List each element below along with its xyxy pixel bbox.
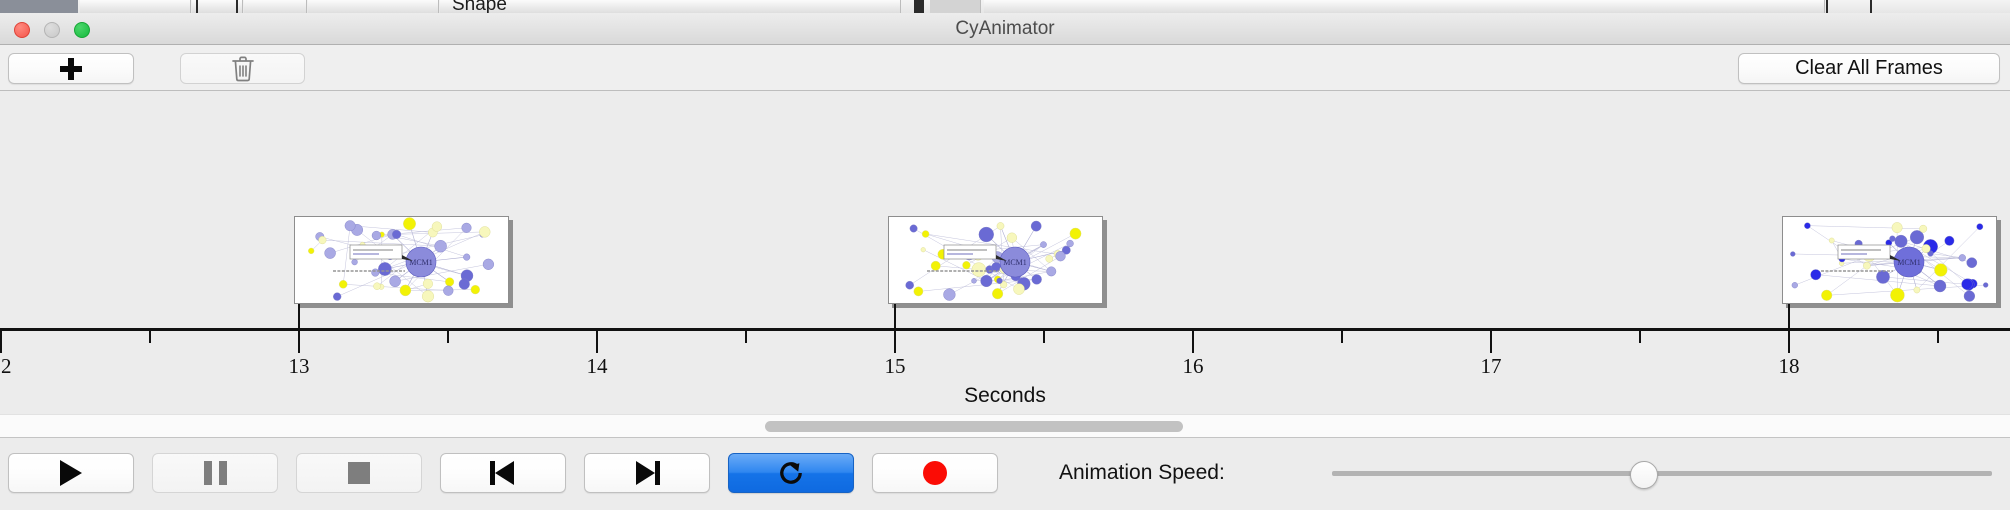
ruler-tick-minor [1043,331,1045,343]
play-icon [60,460,82,486]
ruler-tick-major [0,331,2,353]
cyanimator-window: Shape CyAnimator Clear All Frames MCM1MC… [0,0,2010,510]
ruler-tick-major [1192,331,1194,353]
loop-icon [776,458,806,488]
scrollbar-thumb[interactable] [765,421,1183,432]
timeline-horizontal-scrollbar[interactable] [0,414,2010,438]
frame-thumbnail[interactable]: MCM1 [1782,216,1997,304]
background-window-tick [914,0,924,13]
animation-speed-slider[interactable] [1332,453,1992,493]
pause-button[interactable] [152,453,278,493]
ruler-tick-minor [149,331,151,343]
plus-icon [60,58,82,80]
slider-track [1332,471,1992,476]
playback-toolbar: Animation Speed: [0,439,2010,510]
ruler-tick-major [596,331,598,353]
background-window-label: Shape [452,0,507,14]
ruler-tick-label: 14 [587,354,608,379]
frame-image: MCM1 [1782,216,1997,304]
ruler-tick-major [1788,331,1790,353]
background-window-tick [236,0,238,13]
frame-thumbnail[interactable]: MCM1 [888,216,1103,304]
ruler-tick-label: 18 [1779,354,1800,379]
ruler-tick-major [1490,331,1492,353]
delete-frame-button[interactable] [180,53,305,84]
loop-button[interactable] [728,453,854,493]
axis-title: Seconds [0,384,2010,408]
background-window-strip: Shape [0,0,2010,14]
frame-time-marker [894,304,896,328]
ruler-tick-major [298,331,300,353]
ruler-baseline [0,328,2010,331]
clear-all-frames-button[interactable]: Clear All Frames [1738,53,2000,84]
ruler-tick-minor [447,331,449,343]
stop-icon [348,462,370,484]
network-graph: MCM1 [295,217,509,304]
hub-node-label: MCM1 [1897,258,1921,267]
play-button[interactable] [8,453,134,493]
background-window-segment [930,0,981,13]
ruler-tick-minor [1937,331,1939,343]
trash-icon [230,55,256,83]
ruler-tick-label: 13 [289,354,310,379]
title-bar: CyAnimator [0,13,2010,45]
ruler-tick-major [894,331,896,353]
frame-thumbnail[interactable]: MCM1 [294,216,509,304]
skip-to-start-button[interactable] [440,453,566,493]
background-window-segment [80,0,191,13]
network-graph: MCM1 [1783,217,1997,304]
frame-image: MCM1 [888,216,1103,304]
slider-thumb[interactable] [1630,461,1658,489]
timeline-ruler: 12131415161718 Seconds [0,328,2010,414]
annotation-box [350,245,402,259]
ruler-tick-label: 15 [885,354,906,379]
window-title: CyAnimator [0,13,2010,45]
skip-forward-icon [634,461,660,485]
animation-speed-label: Animation Speed: [1059,453,1225,493]
background-window-tick [196,0,198,13]
ruler-tick-minor [1639,331,1641,343]
background-window-segment [440,0,901,13]
background-window-segment [308,0,439,13]
clear-all-frames-label: Clear All Frames [1795,57,1943,80]
pause-icon [204,461,227,485]
annotation-box [1838,245,1890,259]
ruler-tick-label: 12 [0,354,12,379]
ruler-tick-minor [745,331,747,343]
background-window-segment [984,0,1825,13]
ruler-tick-label: 16 [1183,354,1204,379]
ruler-tick-minor [1341,331,1343,343]
background-window-segment [244,0,307,13]
skip-to-end-button[interactable] [584,453,710,493]
stop-button[interactable] [296,453,422,493]
ruler-tick-label: 17 [1481,354,1502,379]
record-icon [923,461,947,485]
background-window-tick [1870,0,1872,13]
record-button[interactable] [872,453,998,493]
background-window-dark-segment [0,0,78,13]
background-window-tick [1826,0,1828,13]
network-graph: MCM1 [889,217,1103,304]
frame-toolbar: Clear All Frames [0,45,2010,91]
annotation-box [944,245,996,259]
skip-back-icon [490,461,516,485]
timeline-panel[interactable]: MCM1MCM1MCM1 12131415161718 Seconds [0,91,2010,414]
frame-image: MCM1 [294,216,509,304]
frame-time-marker [1788,304,1790,328]
hub-node-label: MCM1 [409,258,433,267]
frame-time-marker [298,304,300,328]
add-frame-button[interactable] [8,53,134,84]
hub-node-label: MCM1 [1003,258,1027,267]
